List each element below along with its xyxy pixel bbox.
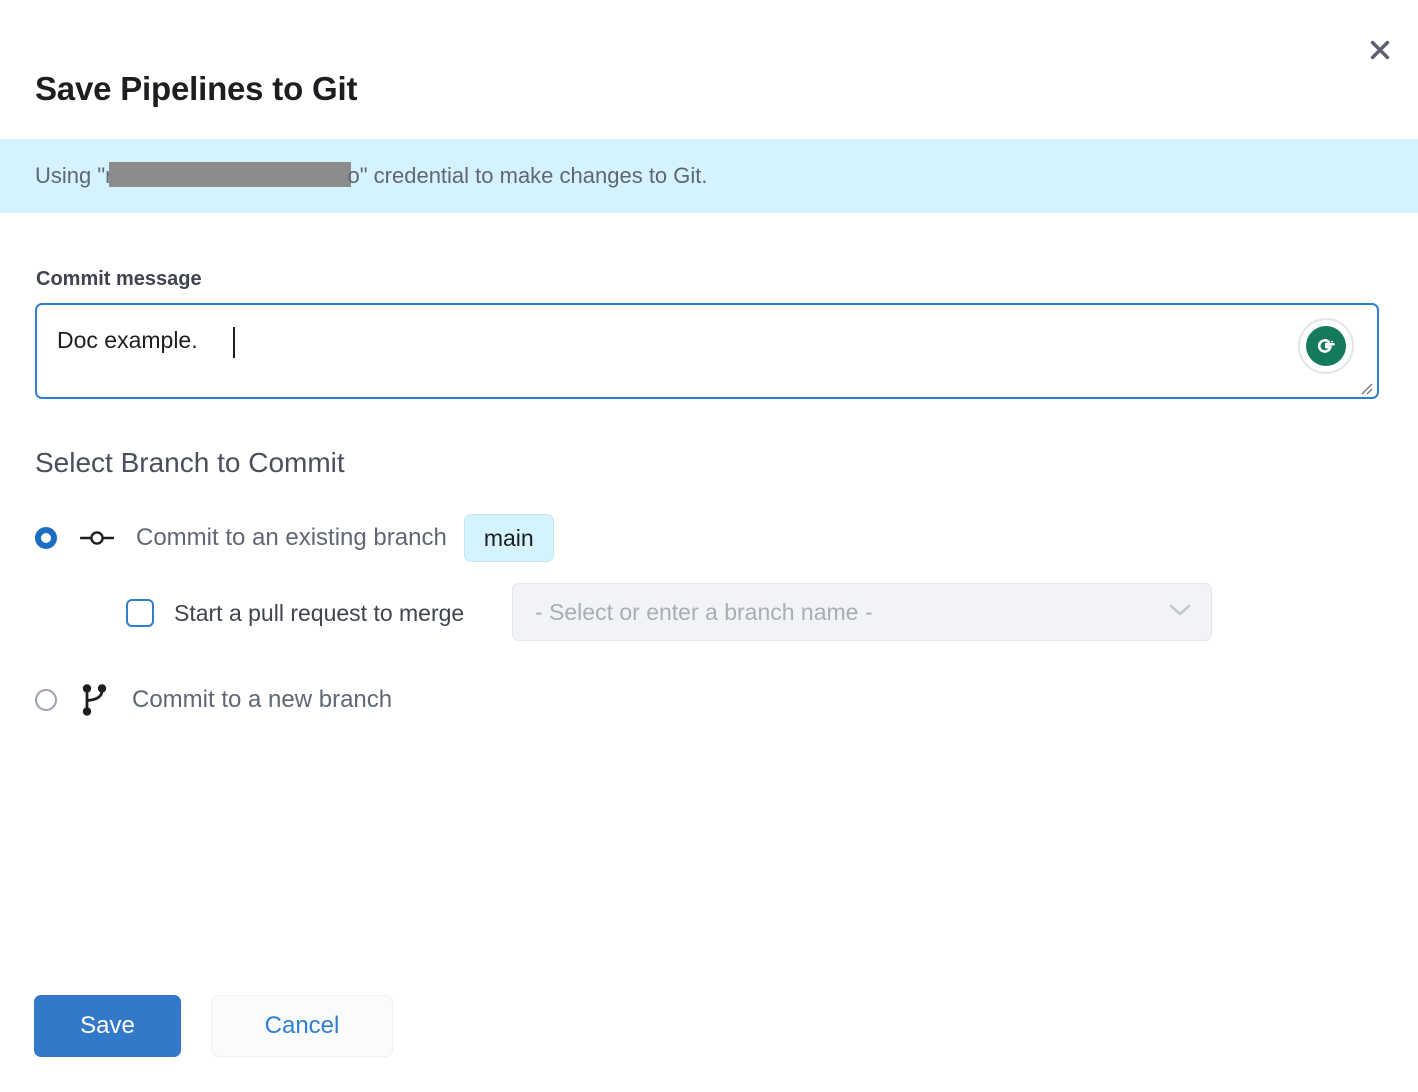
close-icon — [1366, 36, 1394, 64]
commit-message-field-wrapper — [35, 303, 1379, 399]
commit-message-label: Commit message — [36, 266, 202, 292]
start-pull-request-checkbox[interactable] — [126, 599, 154, 627]
cancel-button[interactable]: Cancel — [211, 995, 393, 1057]
chevron-down-icon — [1167, 602, 1193, 623]
git-branch-icon — [80, 683, 110, 717]
pull-request-row[interactable]: Start a pull request to merge — [126, 584, 464, 642]
radio-new-branch[interactable] — [35, 689, 57, 711]
merge-branch-select-placeholder: - Select or enter a branch name - — [535, 598, 873, 626]
new-branch-label[interactable]: Commit to a new branch — [132, 685, 392, 715]
git-commit-icon — [80, 528, 114, 548]
redacted-credential-name — [109, 162, 351, 187]
start-pull-request-label[interactable]: Start a pull request to merge — [174, 599, 464, 627]
banner-text-suffix: o" credential to make changes to Git. — [348, 163, 708, 188]
radio-existing-branch[interactable] — [35, 527, 57, 549]
grammarly-icon[interactable] — [1298, 318, 1354, 374]
radio-row-new-branch[interactable]: Commit to a new branch — [35, 679, 392, 721]
page-title: Save Pipelines to Git — [35, 68, 357, 110]
close-button[interactable] — [1360, 30, 1400, 70]
banner-text-prefix: Using "r — [35, 163, 113, 188]
current-branch-badge[interactable]: main — [464, 514, 554, 562]
radio-row-existing-branch[interactable]: Commit to an existing branch main — [35, 515, 554, 561]
credential-info-banner: Using "ro" credential to make changes to… — [0, 139, 1418, 213]
existing-branch-label[interactable]: Commit to an existing branch — [136, 523, 447, 553]
banner-text: Using "ro" credential to make changes to… — [35, 162, 708, 190]
merge-branch-select[interactable]: - Select or enter a branch name - — [512, 583, 1212, 641]
save-pipelines-dialog: Save Pipelines to Git Using "ro" credent… — [0, 0, 1418, 1092]
commit-message-input[interactable] — [35, 303, 1379, 399]
select-branch-heading: Select Branch to Commit — [35, 445, 345, 481]
text-cursor — [233, 327, 235, 358]
grammarly-glyph — [1306, 326, 1346, 366]
save-button[interactable]: Save — [34, 995, 181, 1057]
